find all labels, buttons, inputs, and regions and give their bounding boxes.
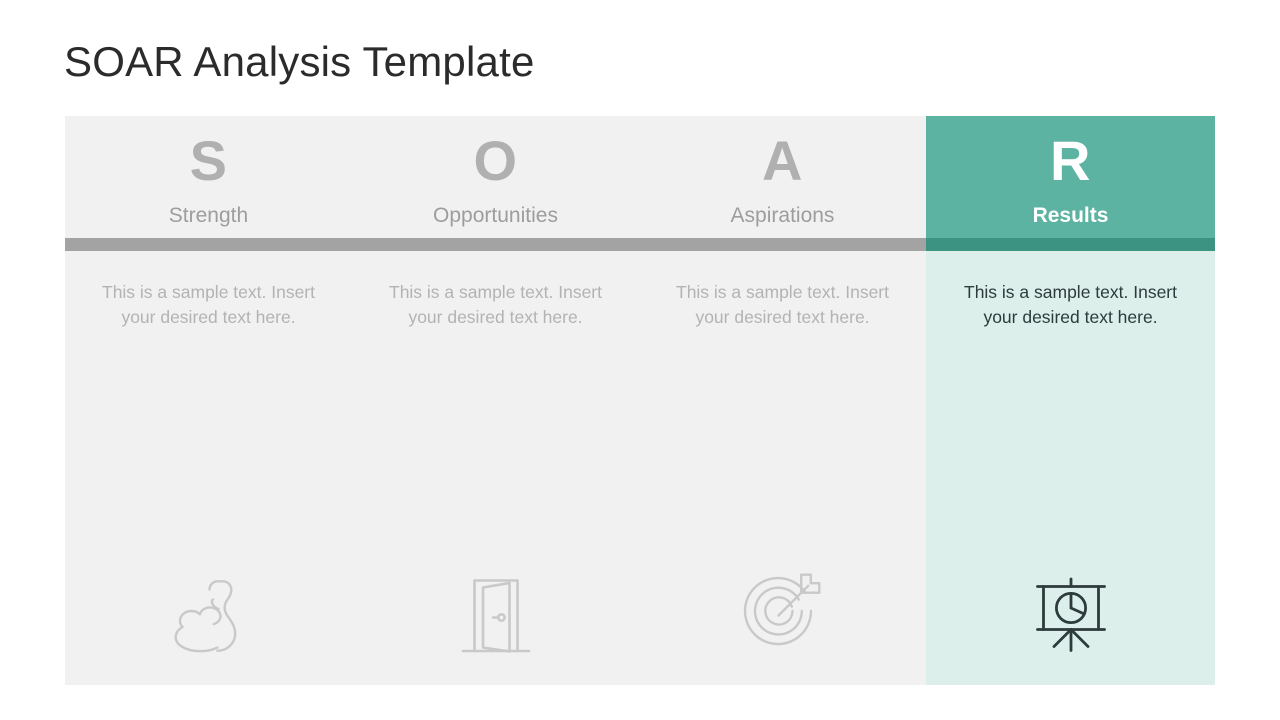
column-label: Opportunities	[433, 204, 558, 228]
open-door-icon	[352, 567, 639, 663]
column-body-text[interactable]: This is a sample text. Insert your desir…	[947, 280, 1195, 330]
soar-column-opportunities[interactable]: O Opportunities This is a sample text. I…	[352, 116, 639, 685]
page-title: SOAR Analysis Template	[64, 38, 535, 86]
soar-column-aspirations[interactable]: A Aspirations This is a sample text. Ins…	[639, 116, 926, 685]
column-letter: R	[1050, 130, 1091, 192]
column-body-aspirations: This is a sample text. Insert your desir…	[639, 251, 926, 685]
soar-column-results[interactable]: R Results This is a sample text. Insert …	[926, 116, 1215, 685]
column-divider	[639, 238, 926, 251]
column-body-text[interactable]: This is a sample text. Insert your desir…	[667, 280, 899, 330]
flexed-bicep-icon	[65, 567, 352, 663]
column-body-text[interactable]: This is a sample text. Insert your desir…	[93, 280, 325, 330]
column-body-strength: This is a sample text. Insert your desir…	[65, 251, 352, 685]
column-label: Results	[1033, 204, 1109, 228]
target-arrow-icon	[639, 567, 926, 663]
column-header-strength: S Strength	[65, 116, 352, 238]
column-body-results: This is a sample text. Insert your desir…	[926, 251, 1215, 685]
soar-columns-panel: S Strength This is a sample text. Insert…	[65, 116, 1215, 685]
column-body-text[interactable]: This is a sample text. Insert your desir…	[380, 280, 612, 330]
column-letter: A	[762, 130, 803, 192]
column-divider	[65, 238, 352, 251]
column-header-aspirations: A Aspirations	[639, 116, 926, 238]
column-label: Strength	[169, 204, 248, 228]
column-label: Aspirations	[731, 204, 835, 228]
column-letter: O	[473, 130, 517, 192]
soar-analysis-slide: SOAR Analysis Template S Strength This i…	[0, 0, 1280, 720]
column-header-opportunities: O Opportunities	[352, 116, 639, 238]
column-divider	[352, 238, 639, 251]
presentation-pie-chart-icon	[926, 567, 1215, 663]
soar-column-strength[interactable]: S Strength This is a sample text. Insert…	[65, 116, 352, 685]
column-header-results: R Results	[926, 116, 1215, 238]
column-body-opportunities: This is a sample text. Insert your desir…	[352, 251, 639, 685]
column-letter: S	[190, 130, 228, 192]
column-divider	[926, 238, 1215, 251]
